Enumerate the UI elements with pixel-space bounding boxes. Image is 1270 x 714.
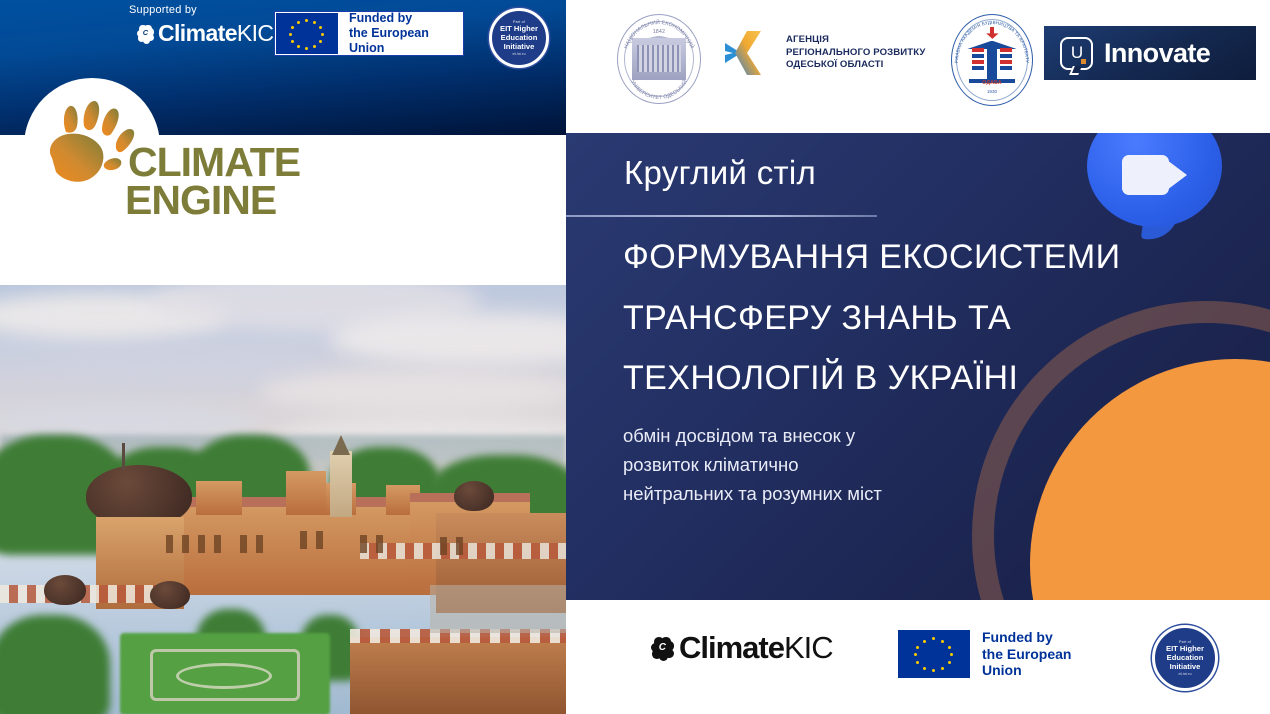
event-type-label: Круглий стіл xyxy=(624,154,816,192)
seal-ring-text: НАЦІОНАЛЬНИЙ ЕКОНОМІЧНИЙ УНІВЕРСИТЕТ ОДЕ… xyxy=(617,14,701,104)
eu-funding-badge-top: Funded by the European Union xyxy=(274,11,464,56)
odesa-national-economic-university-seal: 1842 НАЦІОНАЛЬНИЙ ЕКОНОМІЧНИЙ УНІВЕРСИТЕ… xyxy=(617,14,701,104)
eit-hei-badge-bottom: Part of EIT Higher Education Initiative … xyxy=(1152,625,1218,691)
eu-flag-icon xyxy=(898,630,970,678)
funder-logo-bar: C ClimateKIC Funded by the European Unio… xyxy=(566,600,1270,714)
odaba-academy-seal: ОДАБА 1930 ДЕРЖАВНА АКАДЕМІЯ БУДІВНИЦТВА… xyxy=(951,14,1033,106)
event-headline: ФОРМУВАННЯ ЕКОСИСТЕМИ ТРАНСФЕРУ ЗНАНЬ ТА… xyxy=(623,227,1120,409)
eit-badge-text: EIT Higher Education Initiative xyxy=(1166,644,1204,672)
climate-kic-wordmark: ClimateKIC xyxy=(679,630,833,666)
campus-photo xyxy=(0,285,566,714)
svg-text:ДЕРЖАВНА АКАДЕМІЯ БУДІВНИЦТВА: ДЕРЖАВНА АКАДЕМІЯ БУДІВНИЦТВА ТА АРХІТЕК… xyxy=(951,14,1030,63)
climate-kic-wordmark: ClimateKIC xyxy=(158,20,273,47)
climate-kic-logo-bottom: C ClimateKIC xyxy=(651,630,833,666)
climate-kic-icon: C xyxy=(651,637,674,660)
svg-text:НАЦІОНАЛЬНИЙ ЕКОНОМІЧНИЙ: НАЦІОНАЛЬНИЙ ЕКОНОМІЧНИЙ xyxy=(623,18,696,50)
uinnovate-logo: U Innovate xyxy=(1044,26,1256,80)
eu-funding-label: Funded by the European Union xyxy=(349,11,463,57)
agency-name: АГЕНЦІЯ РЕГІОНАЛЬНОГО РОЗВИТКУ ОДЕСЬКОЇ … xyxy=(786,34,926,72)
eu-funding-label: Funded by the European Union xyxy=(982,629,1100,679)
supported-by-label: Supported by xyxy=(129,4,197,16)
eu-flag-icon xyxy=(276,13,338,54)
video-camera-lens-icon xyxy=(1167,160,1187,190)
climate-engine-wordmark: CLIMATE ENGINE xyxy=(128,144,300,219)
event-subtitle: обмін досвідом та внесок у розвиток клім… xyxy=(623,421,882,509)
video-camera-icon xyxy=(1122,155,1169,195)
odesa-regional-development-agency-logo: АГЕНЦІЯ РЕГІОНАЛЬНОГО РОЗВИТКУ ОДЕСЬКОЇ … xyxy=(721,25,926,81)
divider xyxy=(566,215,877,217)
left-panel: Supported by C ClimateKIC Funded by xyxy=(0,0,566,714)
eit-hei-badge-top: Part of EIT Higher Education Initiative … xyxy=(489,8,549,68)
chevron-arrows-icon xyxy=(721,25,777,81)
climate-kic-icon: C xyxy=(137,25,154,42)
partner-logo-bar: 1842 НАЦІОНАЛЬНИЙ ЕКОНОМІЧНИЙ УНІВЕРСИТЕ… xyxy=(566,0,1270,133)
poster-composite: Supported by C ClimateKIC Funded by xyxy=(0,0,1270,714)
odaba-ring-text: ДЕРЖАВНА АКАДЕМІЯ БУДІВНИЦТВА ТА АРХІТЕК… xyxy=(951,14,1033,106)
climate-kic-logo-top: C ClimateKIC xyxy=(137,20,273,47)
eu-funding-badge-bottom: Funded by the European Union xyxy=(898,630,1100,678)
uinnovate-mark-icon: U xyxy=(1060,37,1093,70)
svg-text:УНІВЕРСИТЕТ ОДЕСЬКИЙ: УНІВЕРСИТЕТ ОДЕСЬКИЙ xyxy=(629,78,689,101)
event-banner: Круглий стіл ФОРМУВАННЯ ЕКОСИСТЕМИ ТРАНС… xyxy=(566,133,1270,600)
right-panel: 1842 НАЦІОНАЛЬНИЙ ЕКОНОМІЧНИЙ УНІВЕРСИТЕ… xyxy=(566,0,1270,714)
eit-badge-text: EIT Higher Education Initiative xyxy=(500,24,538,52)
